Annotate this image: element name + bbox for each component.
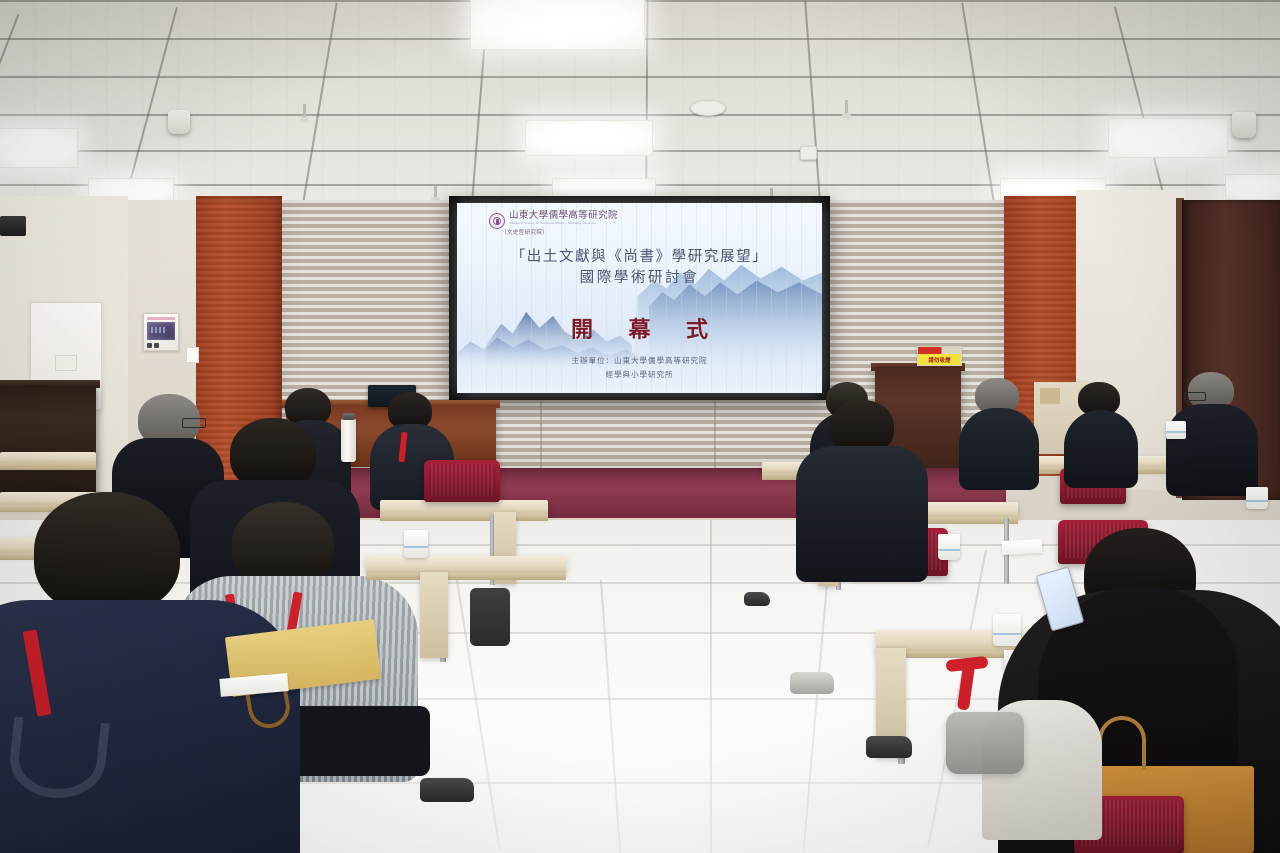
wall-notice-sign: 請勿吸煙	[917, 346, 962, 366]
shoe	[866, 736, 912, 758]
security-camera-icon	[800, 146, 817, 160]
sign-header-band	[918, 347, 961, 354]
logo-chinese-text: 山東大學儒學高等研究院	[509, 212, 618, 222]
sprinkler-head-icon	[434, 186, 437, 200]
thermos-flask	[341, 418, 356, 462]
logo-subtitle: （文史哲研究院）	[501, 228, 548, 236]
ceiling	[0, 0, 1280, 215]
ceiling-light-panel	[1225, 174, 1280, 200]
smoke-detector-icon	[690, 100, 726, 116]
bag-under-desk	[470, 588, 510, 646]
paper-cup	[1246, 487, 1268, 509]
ceiling-light-panel	[1108, 118, 1228, 158]
av-control-panel[interactable]	[143, 313, 179, 351]
paper-cup	[938, 534, 960, 560]
university-seal-icon	[489, 213, 505, 229]
desk	[380, 500, 548, 515]
slide-institution-logo: 山東大學儒學高等研究院 Advanced Institute for Confu…	[489, 212, 618, 229]
paper-cup	[993, 614, 1021, 646]
shoe	[420, 778, 474, 802]
desk	[366, 556, 566, 574]
panel-label-strip	[147, 317, 175, 320]
ceiling-light-panel	[0, 128, 78, 168]
panel-display	[147, 322, 175, 340]
slide-title-line2: 國際學術研討會	[457, 268, 822, 290]
ceiling-light-panel	[470, 0, 645, 50]
presentation-slide: 山東大學儒學高等研究院 Advanced Institute for Confu…	[457, 203, 822, 393]
slide-footer-line1: 主辦單位：山東大學儒學高等研究院	[457, 354, 822, 368]
slide-title-block: 「出土文獻與《尚書》學研究展望」 國際學術研討會	[457, 247, 822, 290]
sign-text: 請勿吸煙	[918, 354, 961, 365]
ceiling-speaker-icon	[1232, 112, 1256, 138]
backpack	[946, 712, 1024, 774]
light-switch[interactable]	[186, 347, 199, 363]
coffee-mug	[1166, 421, 1186, 439]
slide-footer: 主辦單位：山東大學儒學高等研究院 經學與小學研究所	[457, 354, 822, 382]
shoe	[790, 672, 834, 694]
shoe	[744, 592, 770, 606]
slide-title-line1: 「出土文獻與《尚書》學研究展望」	[457, 247, 822, 268]
logo-english-text: Advanced Institute for Confucian Studies…	[509, 222, 618, 227]
panel-buttons[interactable]	[147, 343, 175, 348]
slide-footer-line2: 經學與小學研究所	[457, 368, 822, 382]
ceiling-speaker-icon	[168, 110, 190, 134]
sprinkler-head-icon	[845, 100, 848, 116]
bag-handle	[1098, 716, 1146, 770]
paper-sheet	[1002, 539, 1043, 555]
slide-main-heading: 開 幕 式	[457, 312, 822, 344]
paper-cup	[404, 530, 428, 558]
dark-wood-cabinet	[0, 386, 96, 496]
chair[interactable]	[424, 460, 500, 502]
projection-screen: 山東大學儒學高等研究院 Advanced Institute for Confu…	[449, 196, 830, 400]
sprinkler-head-icon	[303, 104, 306, 120]
desk-modesty-panel	[420, 572, 448, 658]
conference-room-photo: 山東大學儒學高等研究院 Advanced Institute for Confu…	[0, 0, 1280, 853]
wall-speaker-icon	[0, 216, 26, 236]
desk	[0, 452, 96, 464]
ceiling-light-panel	[525, 120, 653, 156]
